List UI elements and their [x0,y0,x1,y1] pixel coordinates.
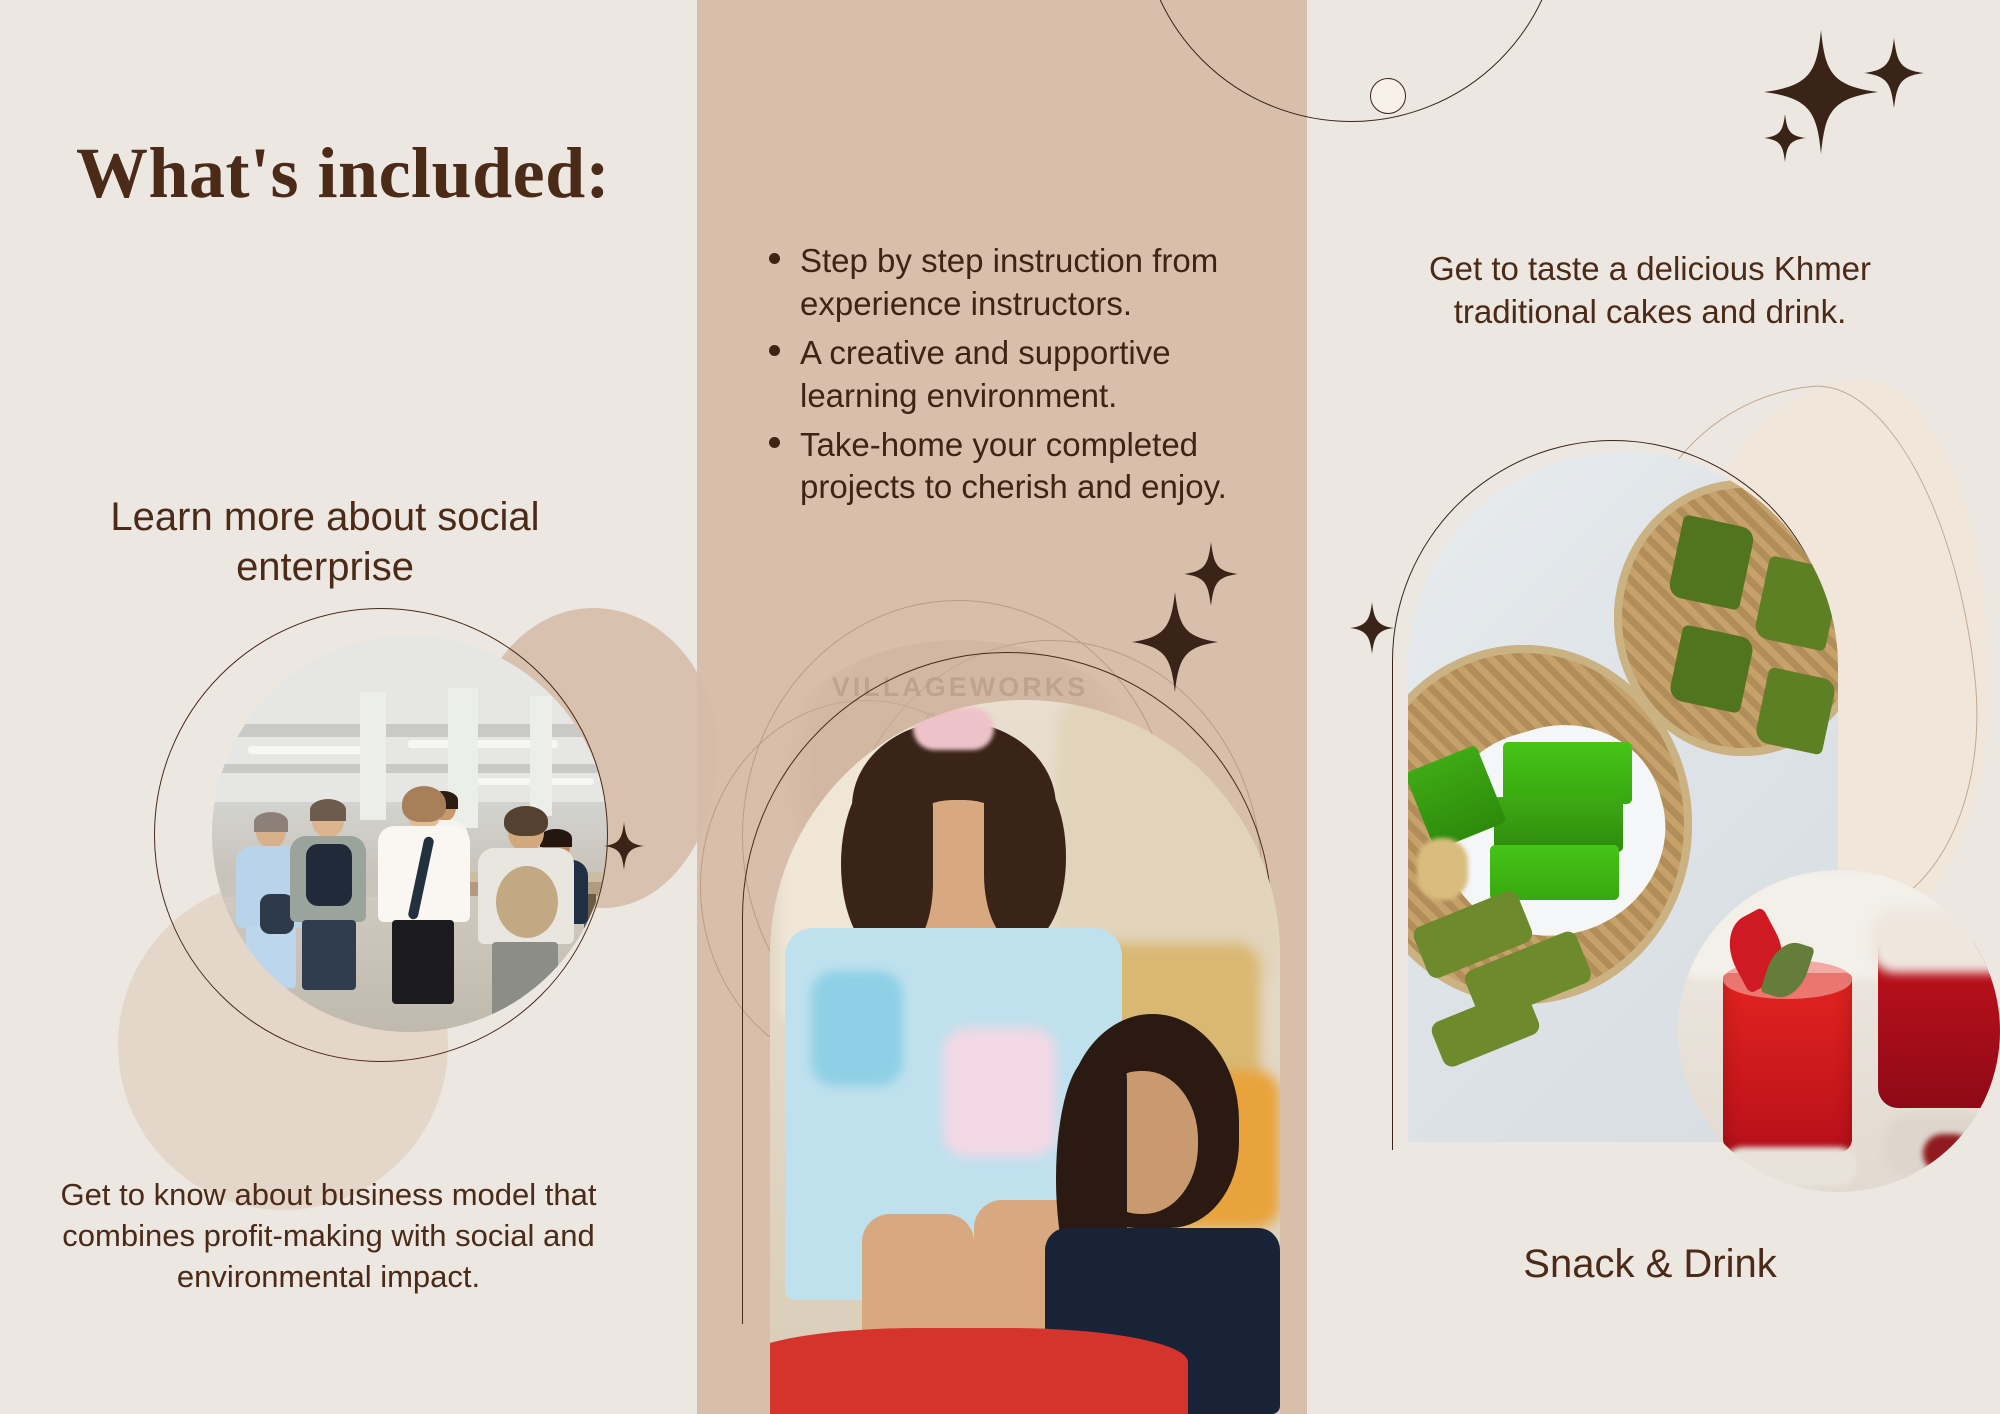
workshop-photo [212,636,608,1032]
drink-photo-illustration [1678,870,2000,1192]
drink-photo [1678,870,2000,1192]
list-item: Take-home your completed projects to che… [800,424,1230,510]
sewing-photo [770,700,1280,1414]
sparkle-small-icon [1348,600,1396,656]
page-title: What's included: [76,132,610,215]
right-heading: Get to taste a delicious Khmer tradition… [1420,248,1880,334]
list-item-text: A creative and supportive learning envir… [800,334,1171,414]
included-bullet-list: Step by step instruction from experience… [760,240,1230,515]
right-caption: Snack & Drink [1420,1242,1880,1287]
left-paragraph: Get to know about business model that co… [56,1175,601,1298]
list-item: A creative and supportive learning envir… [800,332,1230,418]
sparkle-large-icon [1130,590,1220,694]
workshop-photo-illustration [212,636,608,1032]
list-item-text: Step by step instruction from experience… [800,242,1218,322]
list-item: Step by step instruction from experience… [800,240,1230,326]
arc-dot-icon [1370,78,1406,114]
brochure-page: What's included: Learn more about social… [0,0,2000,1414]
list-item-text: Take-home your completed projects to che… [800,426,1227,506]
left-heading: Learn more about social enterprise [60,492,590,592]
sparkle-small-icon [602,820,646,872]
bullet-dot-icon [769,253,780,264]
sparkle-medium-icon [1862,36,1926,110]
sewing-photo-illustration [770,700,1280,1414]
bullet-dot-icon [769,437,780,448]
sparkle-small-icon [1762,112,1808,164]
workshop-photo-clip [212,636,608,1032]
bullet-dot-icon [769,345,780,356]
